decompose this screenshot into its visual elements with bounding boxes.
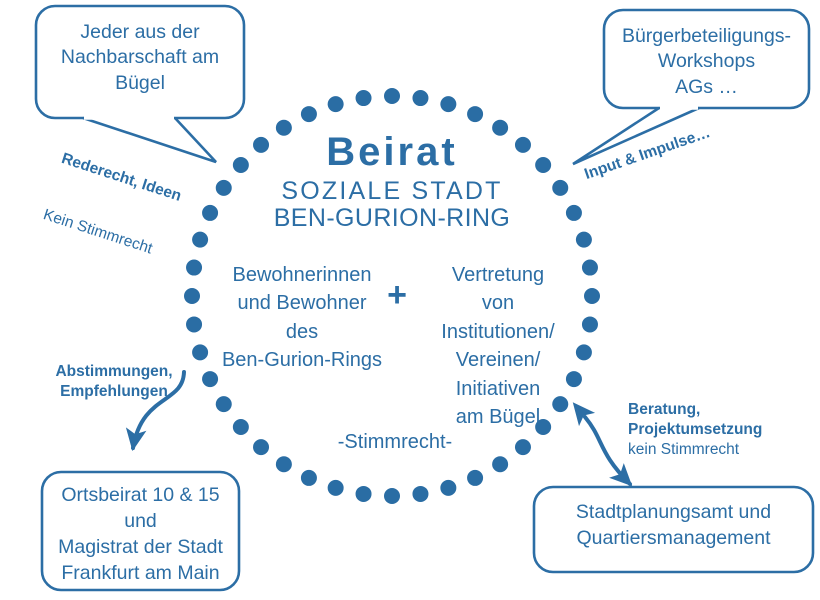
annotation-abstimmungen: Abstimmungen, Empfehlungen [38, 362, 190, 402]
bubble-top-left-text: Jeder aus der Nachbarschaft am Bügel [36, 20, 244, 96]
ring-dot [186, 316, 202, 332]
ring-dot [356, 90, 372, 106]
ring-dot [582, 316, 598, 332]
center-right-column: Vertretung von Institutionen/ Vereinen/ … [412, 261, 584, 431]
annotation-beratung-bold: Beratung, Projektumsetzung [628, 400, 820, 440]
bubble-top-right-text: Bürgerbeteiligungs- Workshops AGs … [604, 24, 809, 100]
page-subtitle-2: BEN-GURION-RING [232, 203, 552, 234]
diagram-canvas: Jeder aus der Nachbarschaft am Bügel Red… [0, 0, 820, 600]
ring-dot [276, 456, 292, 472]
ring-dot [440, 96, 456, 112]
annotation-beratung-regular: kein Stimmrecht [628, 440, 820, 460]
page-subtitle-1: SOZIALE STADT [232, 176, 552, 207]
box-bottom-right-text: Stadtplanungsamt und Quartiersmanagement [534, 500, 813, 552]
ring-dot [192, 344, 208, 360]
ring-dot [412, 90, 428, 106]
ring-dot [384, 488, 400, 504]
ring-dot [328, 96, 344, 112]
ring-dot [412, 486, 428, 502]
ring-dot [515, 439, 531, 455]
ring-dot [216, 396, 232, 412]
ring-dot [384, 88, 400, 104]
arrow-bottom-right [585, 417, 630, 484]
ring-dot [576, 232, 592, 248]
ring-dot [467, 470, 483, 486]
ring-dot [233, 419, 249, 435]
ring-dot [584, 288, 600, 304]
annotation-beratung-group: Beratung, Projektumsetzung kein Stimmrec… [628, 400, 820, 460]
ring-dot [492, 456, 508, 472]
box-bottom-left-text: Ortsbeirat 10 & 15 und Magistrat der Sta… [42, 483, 239, 587]
ring-dot [356, 486, 372, 502]
page-title: Beirat [232, 128, 552, 177]
center-footer-label: -Stimmrecht- [300, 430, 490, 454]
ring-dot [566, 205, 582, 221]
ring-dot [467, 106, 483, 122]
center-left-column: Bewohnerinnen und Bewohner des Ben-Gurio… [216, 261, 388, 375]
ring-dot [301, 106, 317, 122]
ring-dot [328, 480, 344, 496]
ring-dot [440, 480, 456, 496]
ring-dot [253, 439, 269, 455]
ring-dot [301, 470, 317, 486]
ring-dot [582, 260, 598, 276]
plus-sign: + [382, 275, 412, 316]
ring-dot [552, 180, 568, 196]
